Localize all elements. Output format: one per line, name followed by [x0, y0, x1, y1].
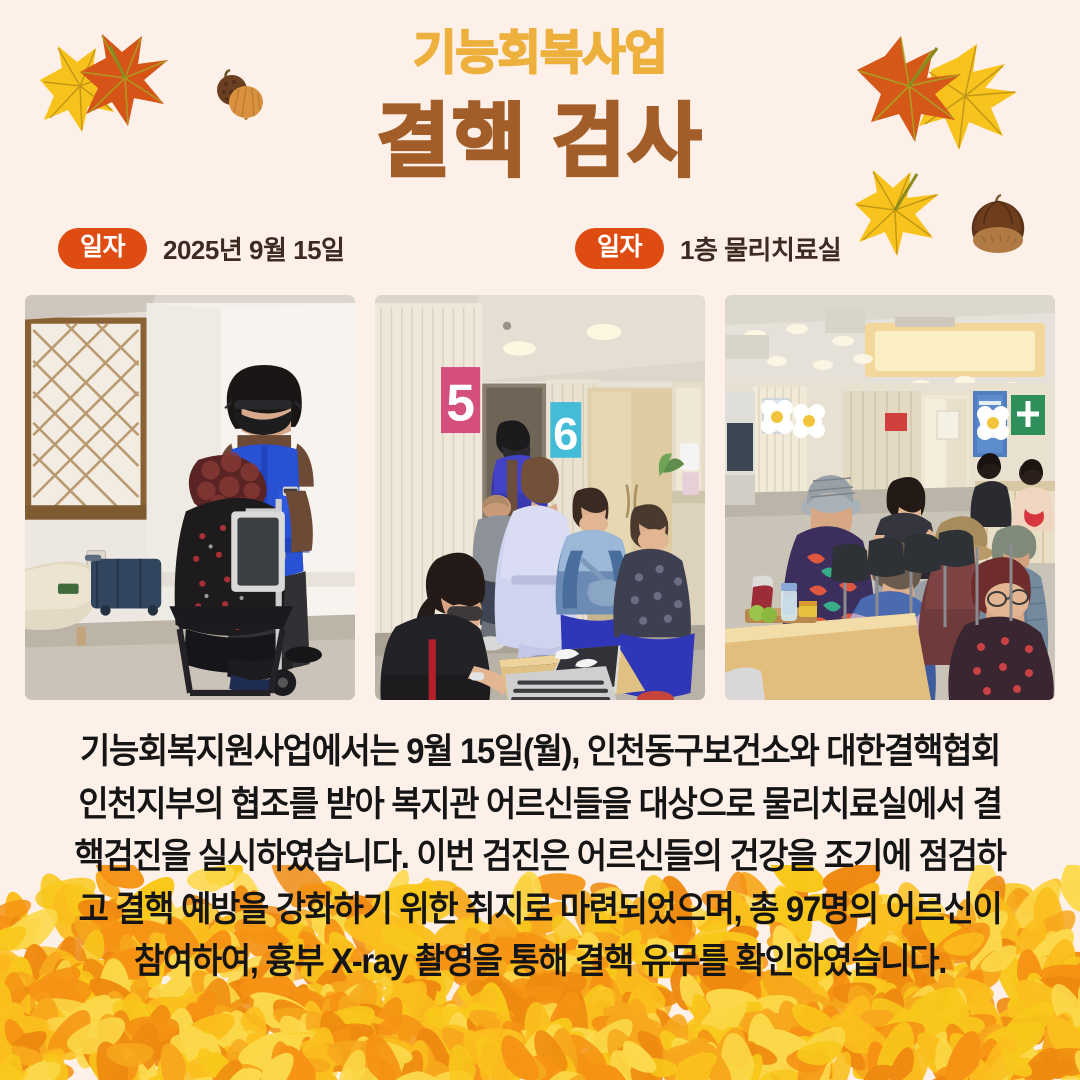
body-line-3: 핵검진을 실시하였습니다. 이번 검진은 어르신들의 건강을 조기에 점검하	[70, 831, 1010, 884]
photo-reception-desk: 5 6	[375, 295, 705, 700]
svg-text:6: 6	[553, 409, 578, 460]
meta-date: 일자 2025년 9월 15일	[58, 228, 344, 269]
place-pill-label: 일자	[575, 228, 664, 269]
body-copy: 기능회복지원사업에서는 9월 15일(월), 인천동구보건소와 대한결핵협회 인…	[70, 726, 1010, 989]
body-line-1: 기능회복지원사업에서는 9월 15일(월), 인천동구보건소와 대한결핵협회	[70, 726, 1010, 779]
body-line-5: 참여하여, 흉부 X-ray 촬영을 통해 결핵 유무를 확인하였습니다.	[70, 936, 1010, 989]
place-value: 1층 물리치료실	[680, 230, 841, 267]
body-line-2: 인천지부의 협조를 받아 복지관 어르신들을 대상으로 물리치료실에서 결	[70, 779, 1010, 832]
svg-text:5: 5	[446, 374, 475, 432]
poster-subtitle: 기능회복사업	[0, 28, 1080, 77]
page-title: 결핵 검사	[0, 100, 1080, 184]
photo-xray-session	[25, 295, 355, 700]
poster-card: 기능회복사업 결핵 검사 일자 2025년 9월 15일 일자 1층 물리치료실	[0, 0, 1080, 1080]
date-value: 2025년 9월 15일	[163, 230, 344, 267]
meta-row: 일자 2025년 9월 15일 일자 1층 물리치료실	[0, 228, 1080, 276]
photo-waiting-area	[725, 295, 1055, 700]
body-line-4: 고 결핵 예방을 강화하기 위한 취지로 마련되었으며, 총 97명의 어르신이	[70, 884, 1010, 937]
date-pill-label: 일자	[58, 228, 147, 269]
photo-strip: 5 6	[25, 295, 1055, 700]
meta-place: 일자 1층 물리치료실	[575, 228, 841, 269]
